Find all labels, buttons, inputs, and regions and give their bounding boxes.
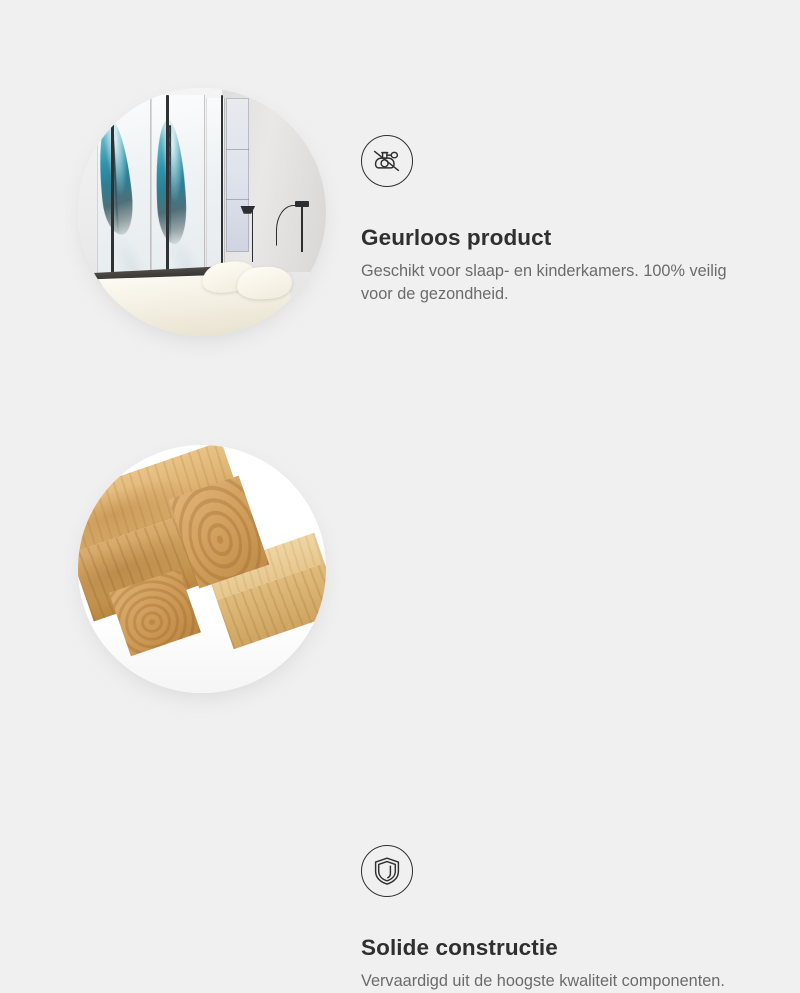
art-panel-1 <box>98 95 150 283</box>
bedroom-with-feather-triptych-photo <box>78 88 326 336</box>
feather-art <box>98 117 136 236</box>
bedroom-scene <box>78 88 326 336</box>
feature-description: Vervaardigd uit de hoogste kwaliteit com… <box>361 961 746 993</box>
panel-frame-edge <box>111 95 114 283</box>
feature-text-odour: Geurloos product Geschikt voor slaap- en… <box>361 135 761 306</box>
floor-lamp-stem <box>252 207 254 262</box>
photo-circle <box>78 88 326 336</box>
photo-circle <box>78 445 326 693</box>
wooden-beams-photo <box>78 445 326 693</box>
feature-title: Solide constructie <box>361 897 761 961</box>
panel-frame-edge <box>166 95 169 283</box>
arc-lamp-stem <box>301 202 303 252</box>
wooden-beams-scene <box>78 445 326 693</box>
feature-block-build: Solide constructie Vervaardigd uit de ho… <box>0 357 800 757</box>
feature-text-build: Solide constructie Vervaardigd uit de ho… <box>361 845 761 993</box>
no-fragrance-icon <box>361 135 413 187</box>
shield-icon <box>361 845 413 897</box>
panel-frame-edge <box>221 95 224 283</box>
feature-description: Geschikt voor slaap- en kinderkamers. 10… <box>361 251 746 306</box>
window <box>226 98 250 252</box>
feature-title: Geurloos product <box>361 187 761 251</box>
feature-block-odour: Geurloos product Geschikt voor slaap- en… <box>0 0 800 400</box>
art-panel-2 <box>152 95 204 283</box>
